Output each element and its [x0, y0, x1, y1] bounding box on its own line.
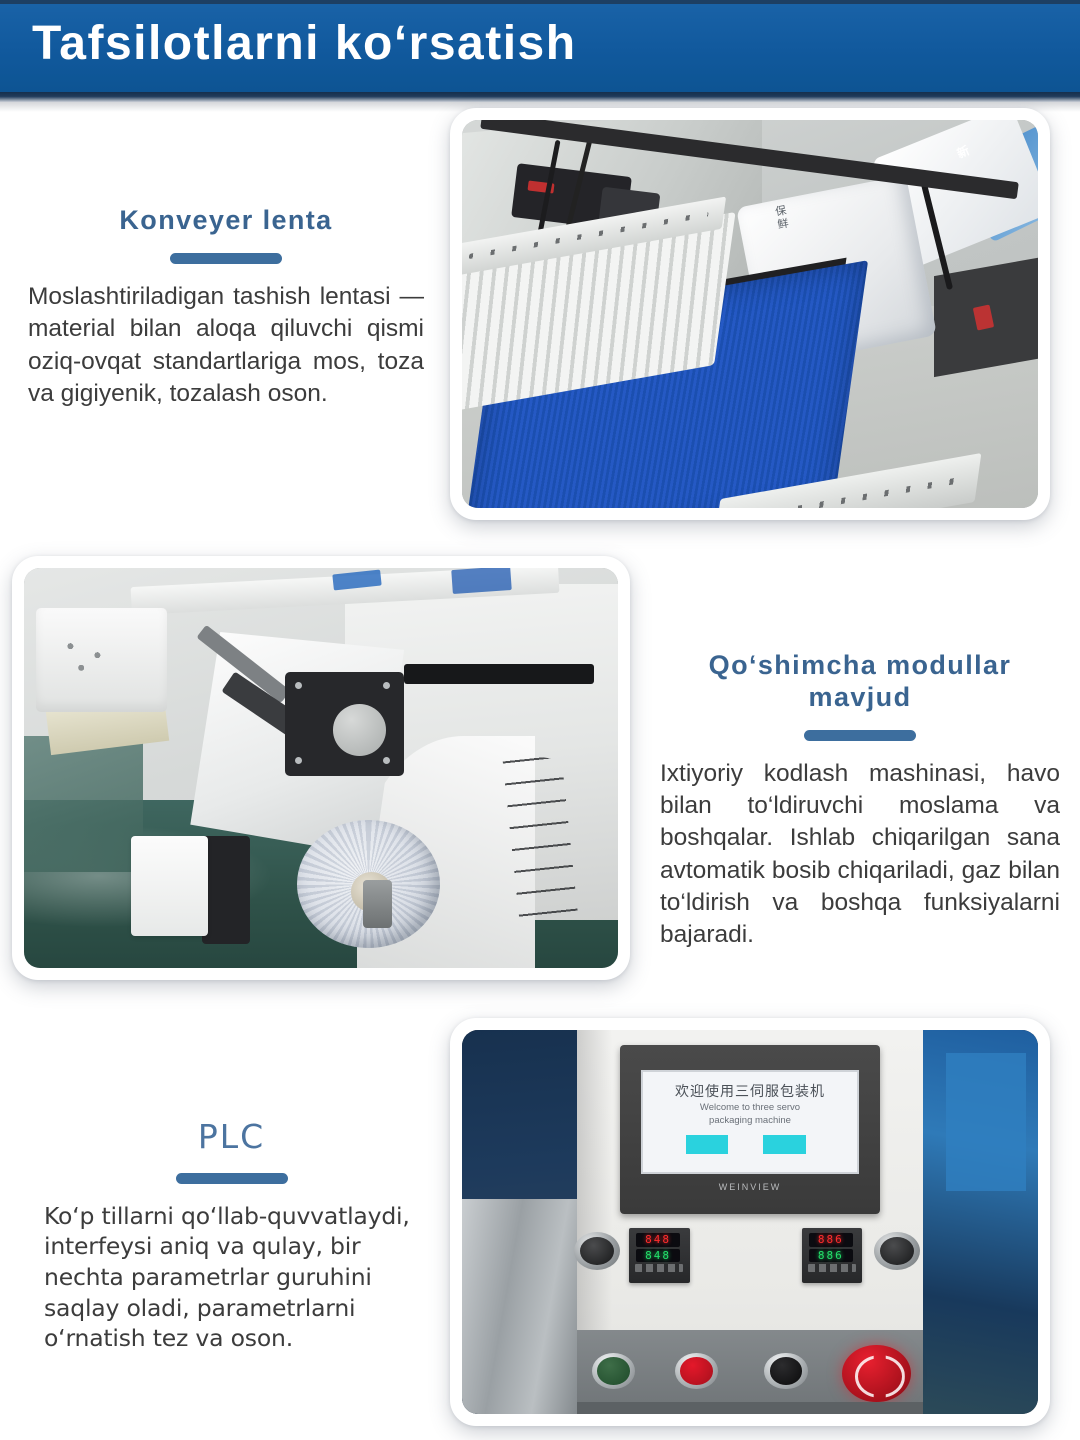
section-3-image-card: 欢迎使用三伺服包装机 Welcome to three servopackagi… — [450, 1018, 1050, 1426]
start-button[interactable] — [592, 1353, 635, 1389]
temperature-controller-left[interactable]: 848 848 — [629, 1228, 689, 1284]
controller-right-pv: 886 — [809, 1233, 853, 1246]
section-3-body: Ko‘p tillarni qo‘llab-quvvatlaydi, inter… — [44, 1201, 419, 1354]
hmi-brand-label: WEINVIEW — [620, 1182, 879, 1192]
section-1-image-card: 保鲜 新 — [450, 108, 1050, 520]
section-2-image-card — [12, 556, 630, 980]
selector-knob-right[interactable] — [874, 1232, 920, 1270]
selector-knob-left[interactable] — [574, 1232, 620, 1270]
section-konveyer-lenta-text: Konveyer lenta Moslashtiriladigan tashis… — [28, 205, 424, 410]
controller-right-keys[interactable] — [808, 1264, 856, 1272]
section-1-body: Moslashtiriladigan tashish lentasi — mat… — [28, 281, 424, 410]
section-2-heading: Qo‘shimcha modullar mavjud — [660, 650, 1060, 714]
controller-left-sv: 848 — [636, 1249, 680, 1262]
conveyor-belt-photo: 保鲜 新 — [462, 120, 1038, 508]
page-header-banner: Tafsilotlarni ko‘rsatish — [0, 0, 1080, 92]
stop-button[interactable] — [675, 1353, 718, 1389]
controller-right-sv: 886 — [809, 1249, 853, 1262]
controller-left-keys[interactable] — [635, 1264, 683, 1272]
mode-button[interactable] — [764, 1353, 807, 1389]
section-1-heading: Konveyer lenta — [28, 205, 424, 237]
section-qoshimcha-modullar-text: Qo‘shimcha modullar mavjud Ixtiyoriy kod… — [660, 650, 1060, 952]
section-1-rule — [170, 253, 282, 264]
section-3-rule — [176, 1173, 288, 1184]
film-roll-mechanism-photo — [24, 568, 618, 968]
section-2-body: Ixtiyoriy kodlash mashinasi, havo bilan … — [660, 758, 1060, 952]
page-title: Tafsilotlarni ko‘rsatish — [32, 16, 577, 71]
section-3-heading: PLC — [44, 1118, 419, 1157]
temperature-controller-right[interactable]: 886 886 — [802, 1228, 862, 1284]
section-2-rule — [804, 730, 916, 741]
section-plc-text: PLC Ko‘p tillarni qo‘llab-quvvatlaydi, i… — [44, 1118, 419, 1354]
control-panel-photo: 欢迎使用三伺服包装机 Welcome to three servopackagi… — [462, 1030, 1038, 1414]
controller-left-pv: 848 — [636, 1233, 680, 1246]
header-underline — [0, 92, 1080, 102]
